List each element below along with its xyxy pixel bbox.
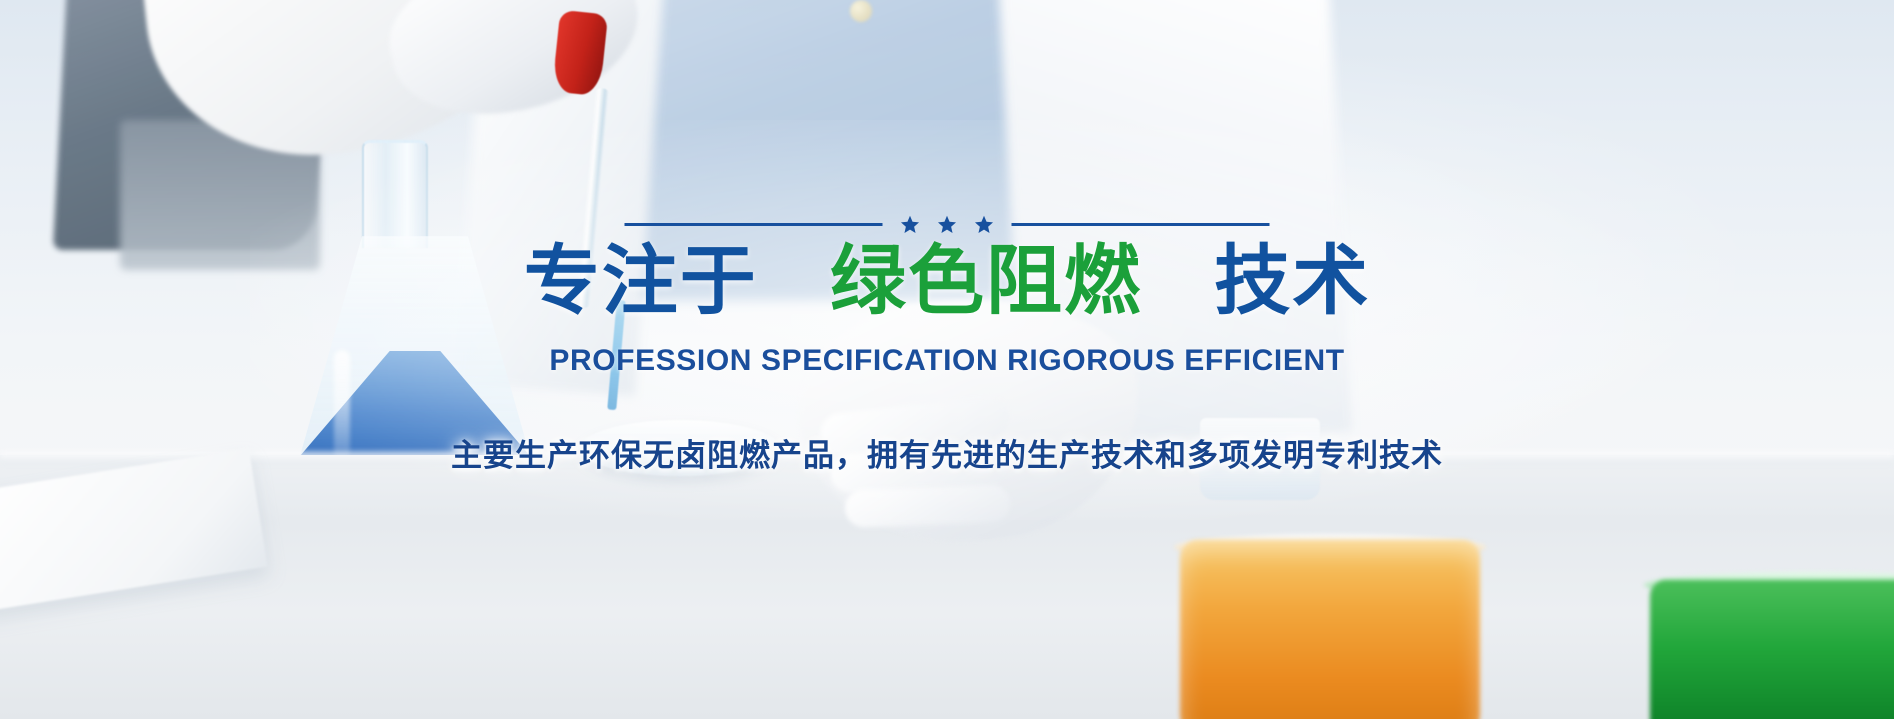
star-group [901, 215, 994, 234]
star-icon [975, 215, 994, 234]
decorative-rule-row [625, 215, 1270, 234]
finger-shape-3 [844, 484, 1010, 528]
headline: 专注于 绿色阻燃 技术 [0, 244, 1894, 320]
hero-banner: 专注于 绿色阻燃 技术 PROFESSION SPECIFICATION RIG… [0, 0, 1894, 719]
decorative-rule-right [1012, 223, 1270, 226]
description-chinese: 主要生产环保无卤阻燃产品，拥有先进的生产技术和多项发明专利技术 [0, 430, 1894, 475]
decorative-rule-left [625, 223, 883, 226]
flask-neck-shape [362, 140, 428, 248]
orange-beaker-shape [1180, 540, 1480, 719]
headline-part-2: 绿色阻燃 [830, 239, 1142, 324]
coat-button-shape [850, 0, 872, 22]
star-icon [938, 215, 957, 234]
headline-part-1: 专注于 [524, 239, 758, 324]
headline-part-3: 技术 [1214, 239, 1370, 324]
subtitle-english: PROFESSION SPECIFICATION RIGOROUS EFFICI… [0, 344, 1894, 378]
green-beaker-shape [1650, 580, 1894, 719]
star-icon [901, 215, 920, 234]
